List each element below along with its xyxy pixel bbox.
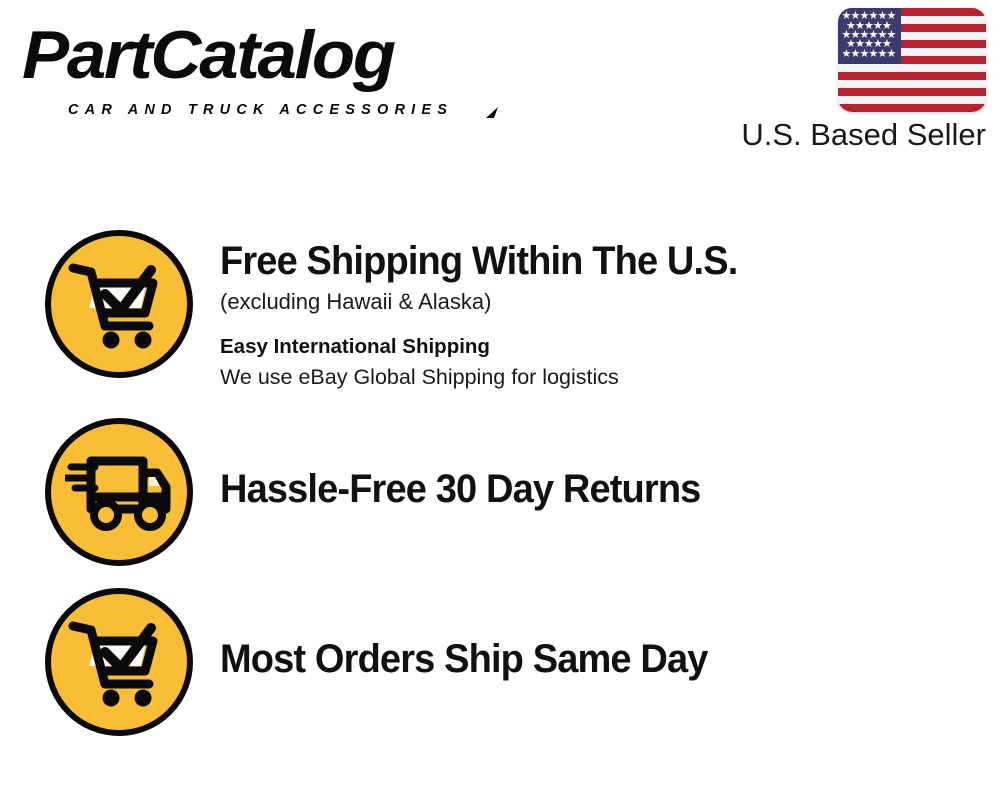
delivery-truck-icon: [45, 418, 193, 566]
logo-swash-icon: [446, 106, 500, 120]
us-based-seller-label: U.S. Based Seller: [600, 117, 986, 153]
feature-title: Most Orders Ship Same Day: [220, 636, 961, 682]
feature-text-block: Free Shipping Within The U.S. (excluding…: [220, 230, 1000, 392]
flag-stripe: [838, 80, 986, 88]
shopping-cart-check-icon: [45, 588, 193, 736]
flag-stripe: [838, 88, 986, 96]
feature-item-free-shipping: Free Shipping Within The U.S. (excluding…: [0, 230, 1000, 410]
brand-logo: PartCatalog CAR AND TRUCK ACCESSORIES: [22, 18, 492, 118]
flag-stripe: [838, 64, 986, 72]
flag-star-icon: ★: [887, 49, 897, 60]
flag-stripe: [838, 96, 986, 104]
feature-note-title: Easy International Shipping: [220, 333, 1000, 361]
feature-subtitle: (excluding Hawaii & Alaska): [220, 287, 1000, 317]
header-banner: PartCatalog CAR AND TRUCK ACCESSORIES ★★…: [0, 0, 1000, 170]
feature-title: Free Shipping Within The U.S.: [220, 238, 961, 284]
feature-title: Hassle-Free 30 Day Returns: [220, 466, 961, 512]
feature-text-block: Hassle-Free 30 Day Returns: [220, 418, 1000, 512]
feature-item-same-day-ship: Most Orders Ship Same Day: [0, 588, 1000, 748]
flag-stripe: [838, 104, 986, 112]
brand-wordmark: PartCatalog: [22, 18, 394, 92]
feature-item-returns: Hassle-Free 30 Day Returns: [0, 418, 1000, 578]
us-flag-icon: ★★★★★★★★★★★★★★★★★★★★★★★★★★★★: [838, 8, 986, 112]
flag-stripe: [838, 72, 986, 80]
feature-note-body: We use eBay Global Shipping for logistic…: [220, 362, 1000, 392]
shopping-cart-check-icon: [45, 230, 193, 378]
brand-tagline: CAR AND TRUCK ACCESSORIES: [68, 102, 453, 118]
flag-canton: ★★★★★★★★★★★★★★★★★★★★★★★★★★★★: [838, 8, 901, 64]
feature-text-block: Most Orders Ship Same Day: [220, 588, 1000, 682]
